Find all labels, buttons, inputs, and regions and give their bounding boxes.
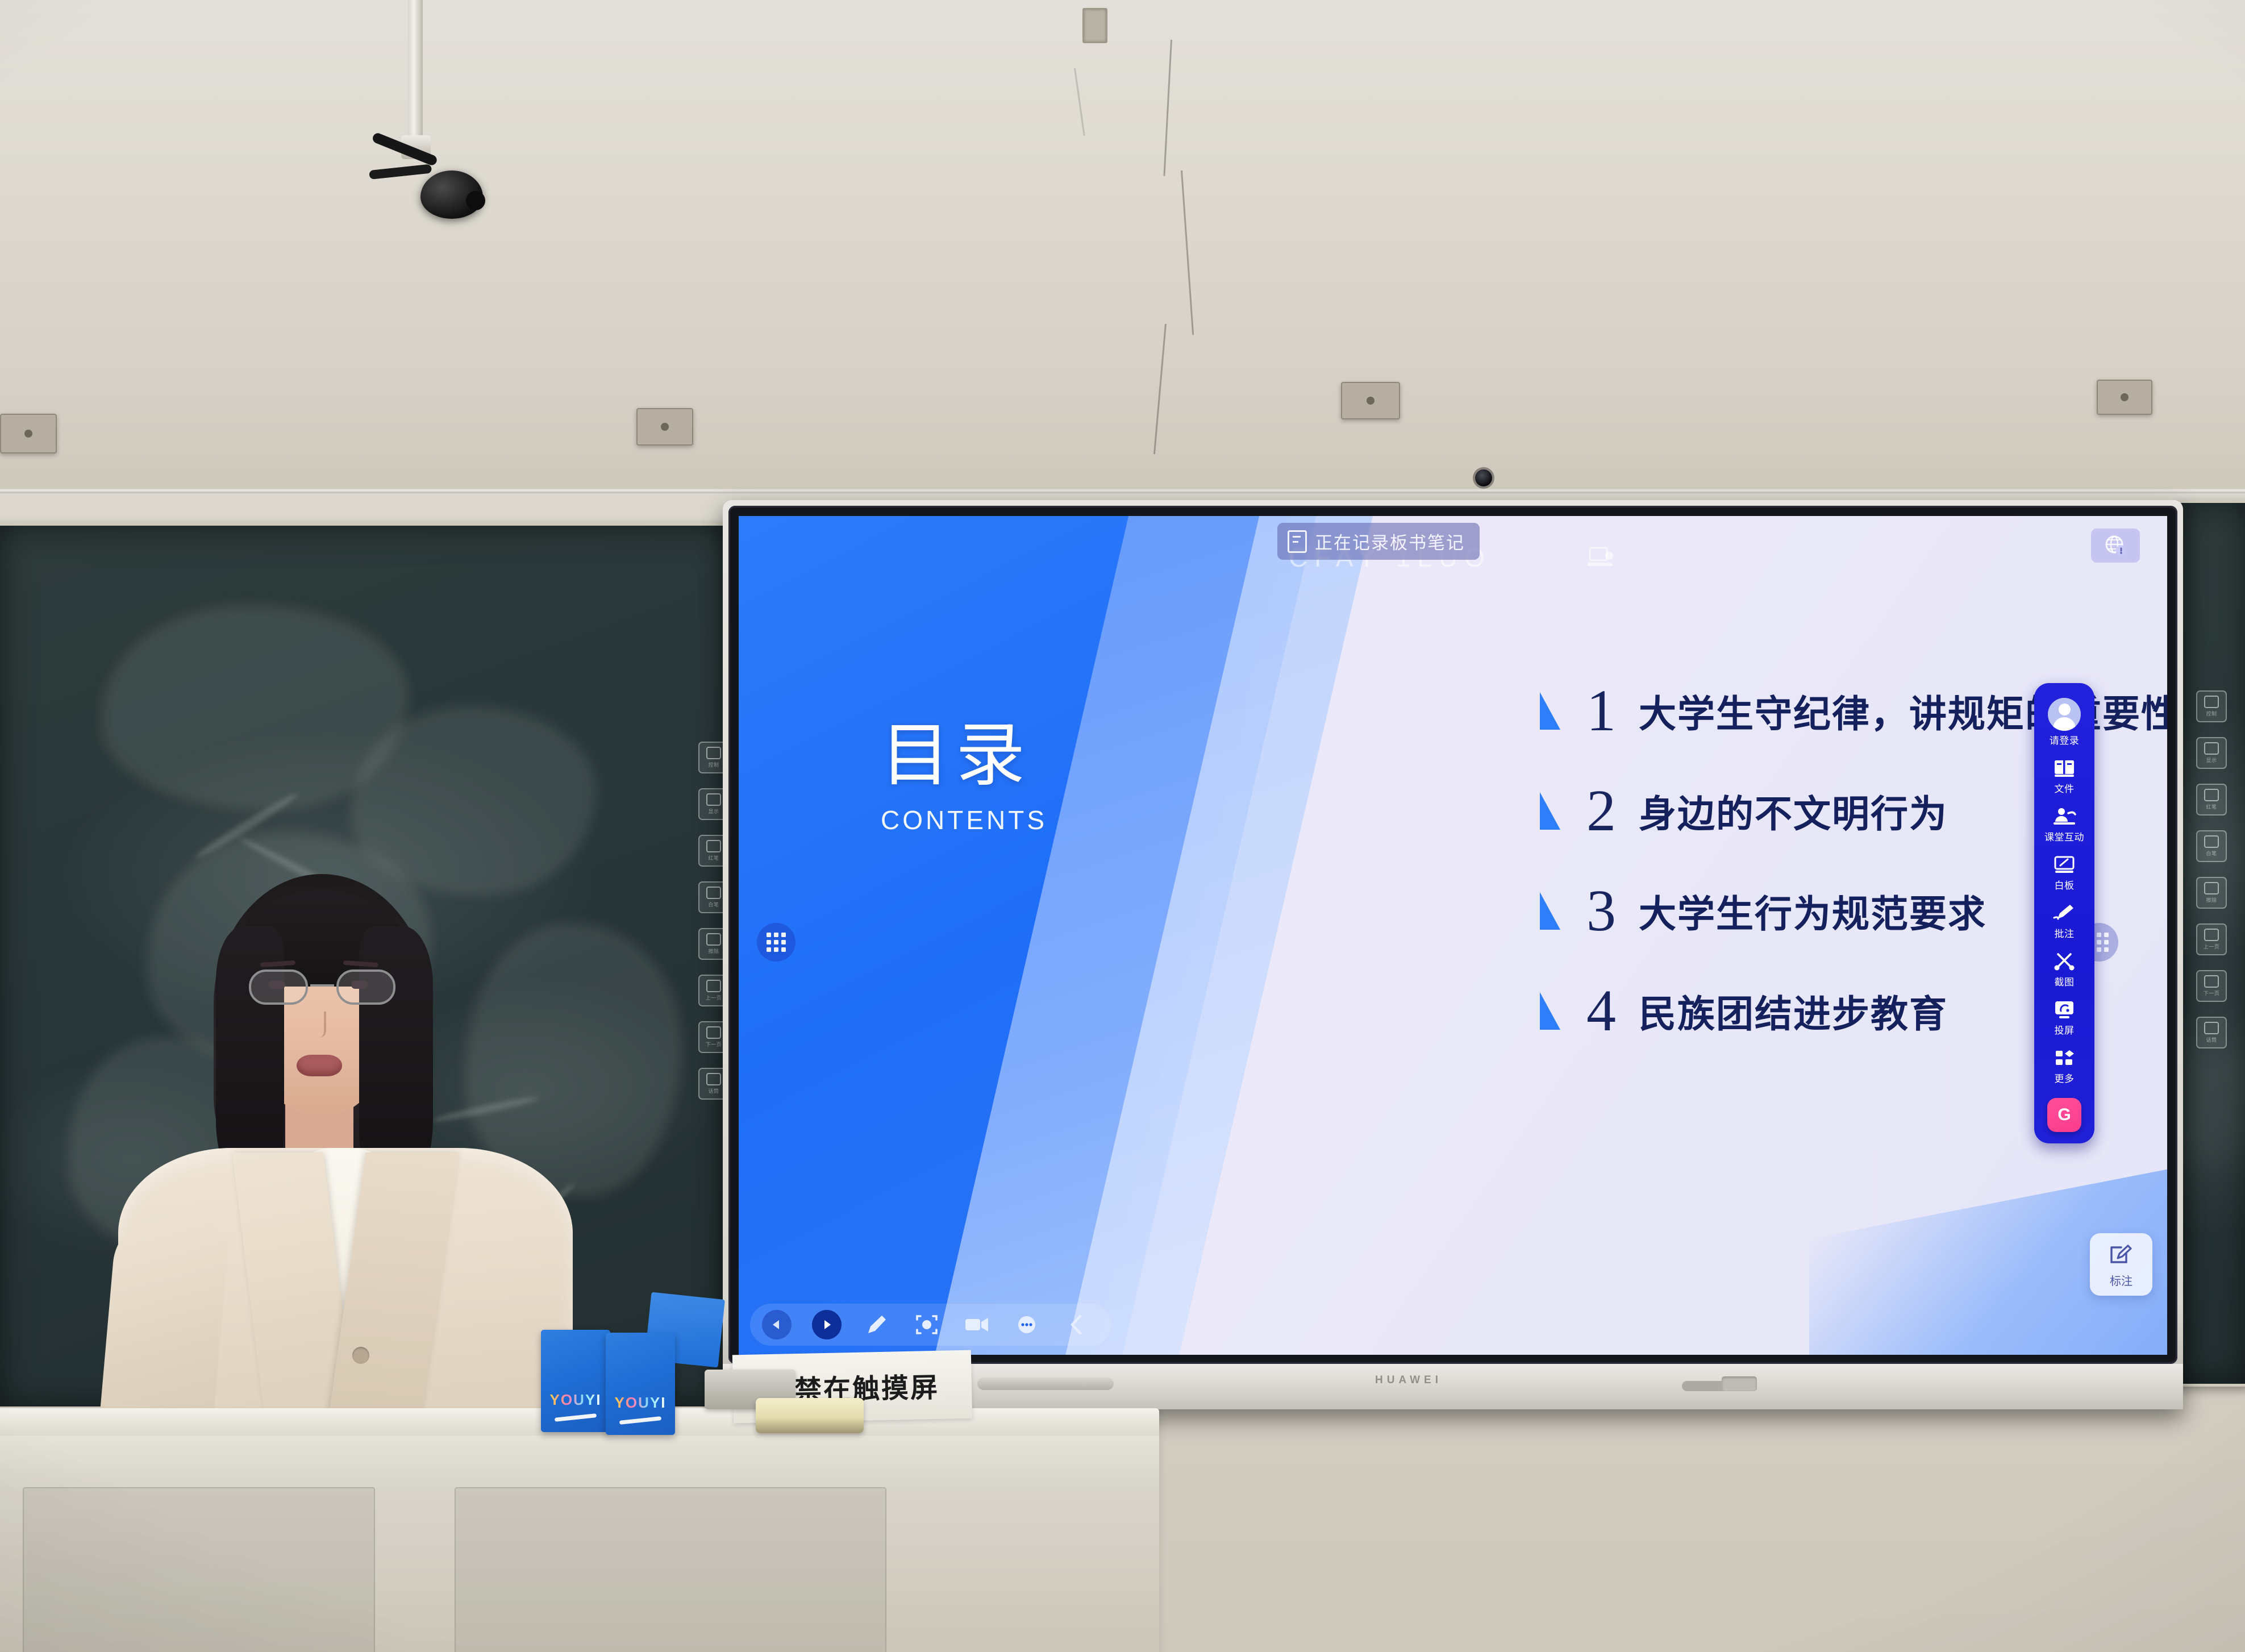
rail-item-screenshot[interactable]: 截图 (2034, 945, 2094, 992)
rail-item-more[interactable]: 更多 (2034, 1042, 2094, 1088)
glasses-lens-right (336, 969, 395, 1005)
board-ctrl-r7[interactable]: 话筒 (2196, 1017, 2227, 1048)
toc-number: 1 (1586, 681, 1639, 740)
blackboard-eraser (756, 1398, 864, 1433)
triangle-bullet-icon (1540, 992, 1560, 1030)
chalk-box-1: YOUYI (541, 1330, 610, 1432)
scissors-icon (2052, 950, 2077, 972)
panel-pen-slot (977, 1378, 1114, 1390)
chalkboard-right: 控制 显示 红笔 白笔 擦除 上一页 下一页 话筒 (2176, 500, 2245, 1387)
previous-page-button[interactable] (761, 1309, 792, 1340)
wall-mount-bracket-2 (636, 408, 693, 446)
panel-brand-logo: HUAWEI (1375, 1374, 1442, 1387)
pink-app-icon[interactable]: G (2047, 1098, 2081, 1132)
slide-bottom-toolbar[interactable] (750, 1304, 1111, 1346)
rail-item-class-interaction[interactable]: 课堂互动 (2034, 800, 2094, 847)
triangle-bullet-icon (1540, 692, 1560, 730)
slide-title-cn: 目录 (881, 721, 1047, 790)
user-avatar-icon (2048, 698, 2081, 731)
presenter-mouth (297, 1055, 342, 1076)
rail-label: 截图 (2055, 974, 2075, 988)
annotate-square-pen-icon (2106, 1241, 2136, 1268)
annotate-pen-icon (2052, 901, 2077, 924)
panel-camera-icon (1475, 469, 1492, 486)
board-ctrl-r1[interactable]: 显示 (2196, 737, 2227, 769)
panel-side-rail[interactable]: 请登录 文件 (2034, 683, 2094, 1143)
rail-label: 批注 (2055, 926, 2075, 940)
rail-item-cast[interactable]: 投屏 (2034, 993, 2094, 1040)
more-dots-icon (1014, 1312, 1040, 1338)
more-grid-icon (2052, 1046, 2077, 1069)
glasses-bridge (310, 984, 334, 987)
wall-fixture (1082, 8, 1107, 43)
previous-page-icon (762, 1310, 792, 1339)
board-ctrl-r5[interactable]: 上一页 (2196, 923, 2227, 955)
class-interaction-icon (2052, 805, 2077, 827)
pen-icon (864, 1312, 890, 1338)
annotate-fab-button[interactable]: 标注 (2090, 1233, 2152, 1296)
presentation-slide[interactable]: 目录 CONTENTS 1 大学生守纪律，讲规矩的重要性 2 身边的不文明行为 … (739, 516, 2167, 1355)
mic-tip (466, 191, 485, 210)
wall-mount-bracket-1 (0, 414, 57, 453)
collapse-button[interactable] (1061, 1309, 1092, 1340)
toc-label: 身边的不文明行为 (1639, 784, 1948, 838)
toc-label: 大学生行为规范要求 (1639, 884, 1986, 938)
record-video-icon (963, 1312, 991, 1338)
next-page-button[interactable] (811, 1309, 842, 1340)
board-ctrl-r0[interactable]: 控制 (2196, 690, 2227, 722)
rail-item-files[interactable]: 文件 (2034, 752, 2094, 798)
next-page-icon (812, 1310, 842, 1339)
watermark-device-icon (1585, 546, 1615, 571)
presenter-blazer-button (352, 1347, 369, 1364)
cast-screen-icon (2052, 998, 2077, 1021)
rail-label: 白板 (2055, 877, 2075, 892)
toc-number: 2 (1586, 781, 1639, 840)
glasses-lens-left (249, 969, 308, 1005)
pen-button[interactable] (861, 1309, 892, 1340)
record-video-button[interactable] (961, 1309, 992, 1340)
chalk-stick (619, 1416, 661, 1425)
presenter-glasses (248, 969, 397, 1005)
pink-app-glyph: G (2057, 1105, 2071, 1125)
screenshot-icon (914, 1312, 940, 1338)
annotate-fab-label: 标注 (2110, 1272, 2132, 1288)
globe-warning-icon (2102, 532, 2129, 559)
podium-panel-left (23, 1487, 375, 1652)
network-status-chip[interactable] (2091, 529, 2140, 563)
chalk-box-2: YOUYI (606, 1333, 675, 1435)
wall-upper (0, 0, 2245, 511)
screenshot-button[interactable] (911, 1309, 942, 1340)
toc-label: 民族团结进步教育 (1639, 984, 1948, 1038)
triangle-bullet-icon (1540, 892, 1560, 930)
wall-mount-bracket-3 (1341, 382, 1400, 419)
toc-number: 3 (1586, 881, 1639, 941)
slide-title-block: 目录 CONTENTS (881, 721, 1047, 835)
board-control-strip-right[interactable]: 控制 显示 红笔 白笔 擦除 上一页 下一页 话筒 (2196, 690, 2227, 1048)
podium-panel-right (455, 1487, 886, 1652)
rail-item-annotate[interactable]: 批注 (2034, 897, 2094, 943)
triangle-bullet-icon (1540, 792, 1560, 830)
classroom-scene: 控制 显示 红笔 白笔 擦除 上一页 下一页 话筒 控制 显示 红笔 白笔 擦除… (0, 0, 2245, 1652)
rail-label: 课堂互动 (2044, 829, 2084, 843)
panel-port-slot (1722, 1376, 1757, 1391)
toc-number: 4 (1586, 981, 1639, 1041)
rail-label: 文件 (2055, 781, 2075, 795)
board-ctrl-r2[interactable]: 红笔 (2196, 784, 2227, 815)
grid-dots-handle-left[interactable] (757, 923, 795, 962)
slide-title-en: CONTENTS (881, 805, 1047, 835)
notification-pill[interactable]: 正在记录板书笔记 (1277, 523, 1480, 560)
board-ctrl-r4[interactable]: 擦除 (2196, 877, 2227, 909)
rail-label: 更多 (2055, 1071, 2075, 1085)
more-button[interactable] (1011, 1309, 1042, 1340)
wall-mount-bracket-4 (2097, 380, 2152, 415)
file-icon (2052, 756, 2077, 779)
collapse-left-icon (1067, 1312, 1087, 1338)
chalk-stick (555, 1413, 597, 1422)
chalk-brand-label: YOUYI (615, 1394, 667, 1412)
chalk-brand-label: YOUYI (550, 1391, 602, 1409)
whiteboard-icon (2052, 853, 2077, 876)
wall-seam (0, 490, 2245, 493)
podium-body (0, 1415, 1159, 1652)
note-record-icon (1288, 530, 1307, 553)
board-ctrl-r3[interactable]: 白笔 (2196, 830, 2227, 862)
notification-text: 正在记录板书笔记 (1315, 529, 1465, 554)
rail-label: 请登录 (2050, 733, 2080, 747)
presenter-nose (311, 1012, 326, 1038)
board-ctrl-r6[interactable]: 下一页 (2196, 970, 2227, 1002)
rail-item-login[interactable]: 请登录 (2034, 693, 2094, 750)
rail-item-whiteboard[interactable]: 白板 (2034, 848, 2094, 895)
rail-label: 投屏 (2055, 1022, 2075, 1037)
